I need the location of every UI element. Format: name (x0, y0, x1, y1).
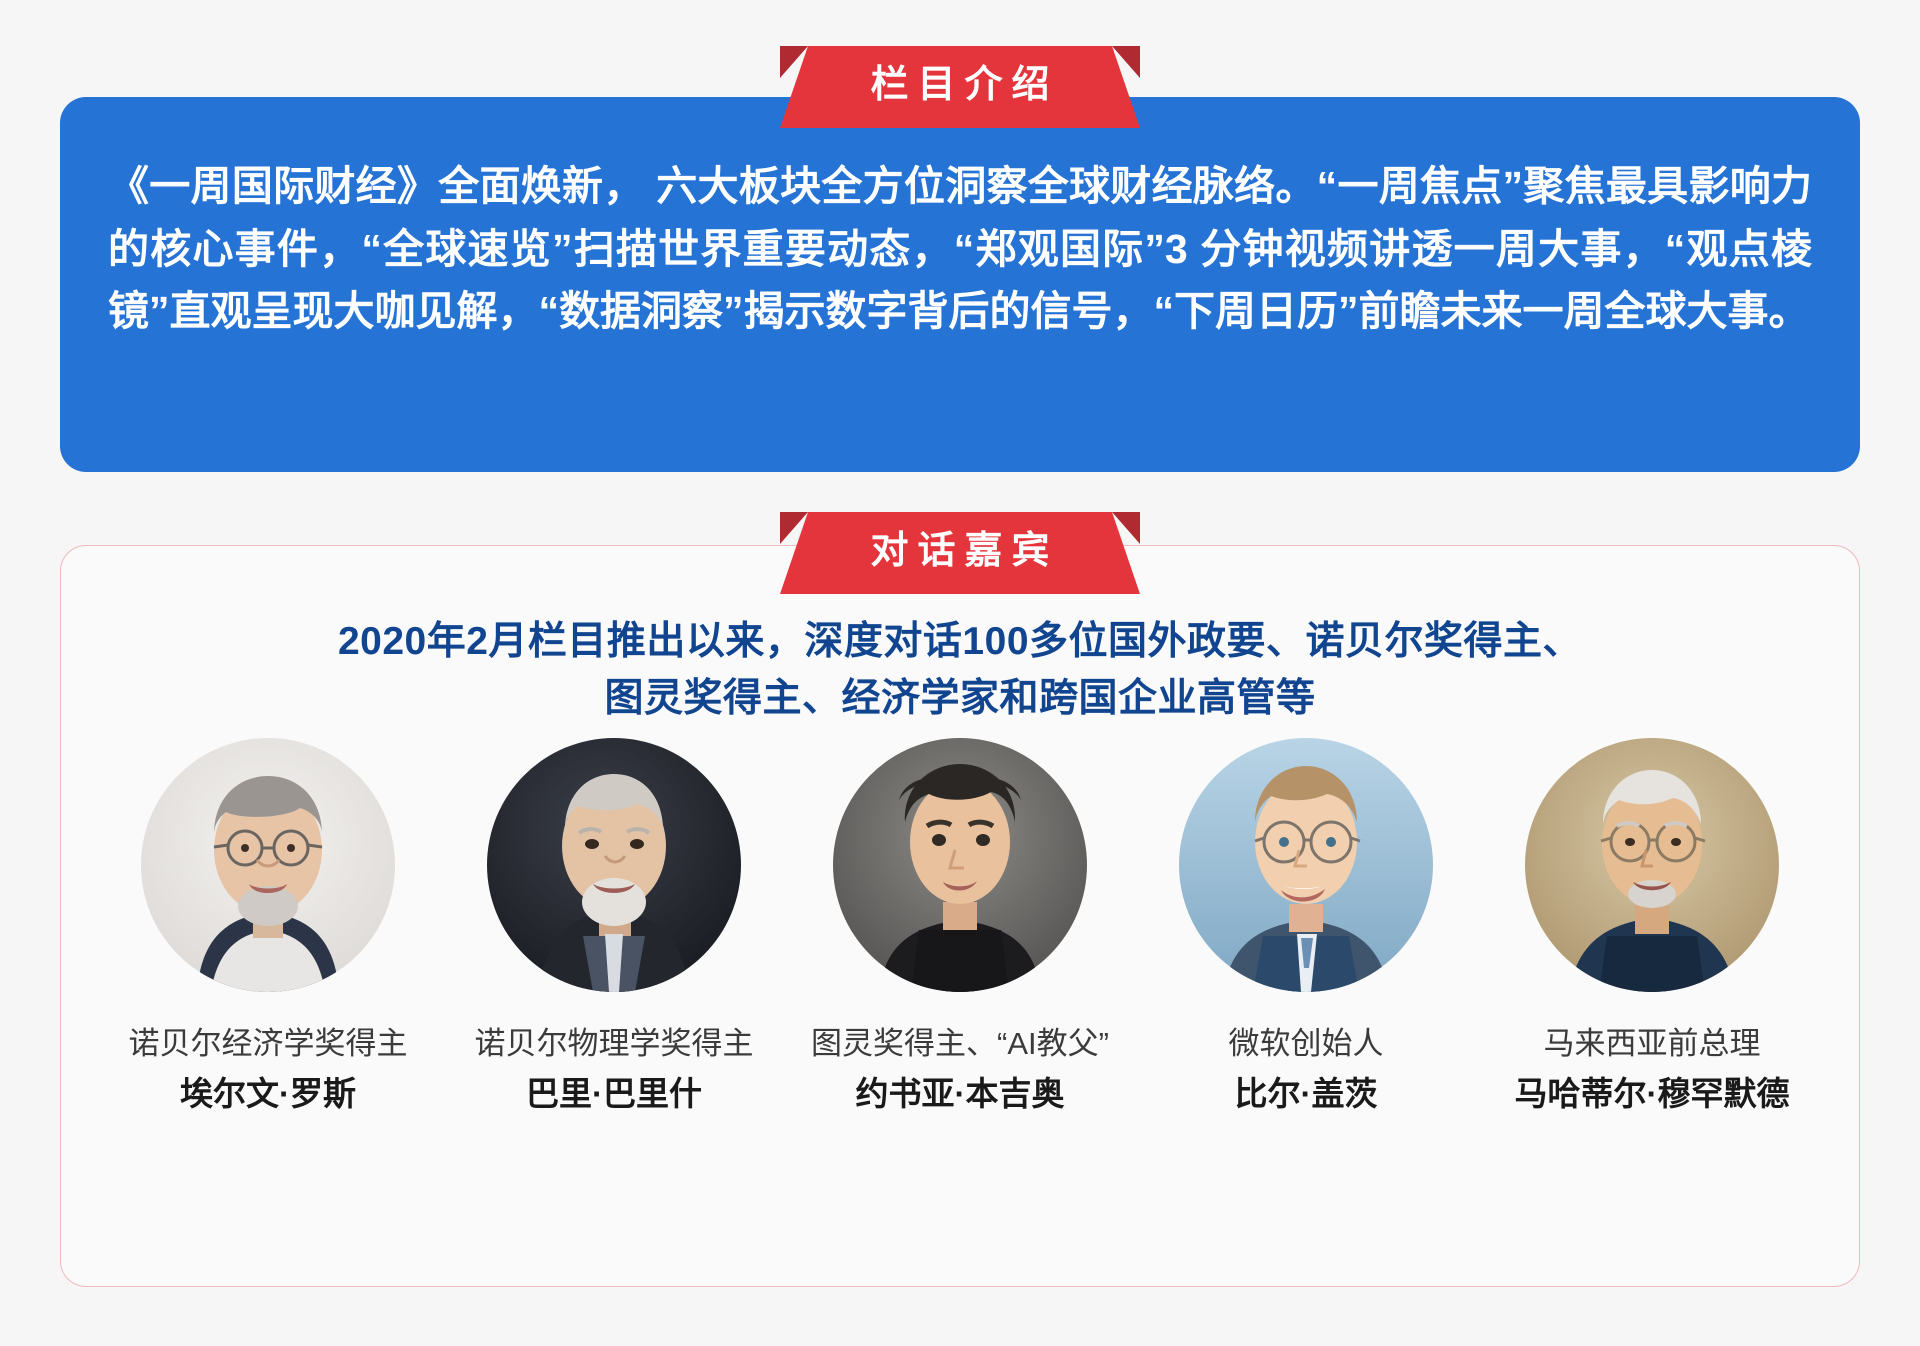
guest-ribbon-banner: 对话嘉宾 (750, 512, 1170, 594)
guest-name: 马哈蒂尔·穆罕默德 (1515, 1073, 1790, 1114)
portrait-alvin-roth-icon (141, 738, 395, 992)
guest-role: 诺贝尔物理学奖得主 (475, 1025, 754, 1064)
guest-role: 诺贝尔经济学奖得主 (129, 1025, 408, 1064)
portrait-mahathir-mohamad (1525, 738, 1779, 992)
guest-item[interactable]: 诺贝尔物理学奖得主 巴里·巴里什 (464, 738, 764, 1114)
guest-role: 微软创始人 (1229, 1025, 1384, 1064)
intro-body-text: 《一周国际财经》全面焕新， 六大板块全方位洞察全球财经脉络。“一周焦点”聚焦最具… (108, 155, 1812, 343)
guest-item[interactable]: 微软创始人 比尔·盖茨 (1156, 738, 1456, 1114)
portrait-mahathir-mohamad-icon (1525, 738, 1779, 992)
guest-name: 约书亚·本吉奥 (856, 1073, 1065, 1114)
guest-ribbon-label: 对话嘉宾 (861, 532, 1058, 574)
guest-name: 埃尔文·罗斯 (180, 1073, 356, 1114)
intro-ribbon-label: 栏目介绍 (861, 66, 1058, 108)
guest-role: 图灵奖得主、“AI教父” (811, 1025, 1109, 1064)
portrait-barry-barish (487, 738, 741, 992)
guest-item[interactable]: 诺贝尔经济学奖得主 埃尔文·罗斯 (118, 738, 418, 1114)
guest-card: 2020年2月栏目推出以来，深度对话100多位国外政要、诺贝尔奖得主、 图灵奖得… (60, 545, 1860, 1287)
guest-list: 诺贝尔经济学奖得主 埃尔文·罗斯 (61, 738, 1859, 1114)
guest-role: 马来西亚前总理 (1544, 1025, 1761, 1064)
portrait-barry-barish-icon (487, 738, 741, 992)
guest-item[interactable]: 马来西亚前总理 马哈蒂尔·穆罕默德 (1502, 738, 1802, 1114)
intro-ribbon-banner: 栏目介绍 (750, 46, 1170, 128)
guest-heading: 2020年2月栏目推出以来，深度对话100多位国外政要、诺贝尔奖得主、 图灵奖得… (61, 614, 1859, 727)
guest-heading-line2: 图灵奖得主、经济学家和跨国企业高管等 (61, 671, 1859, 728)
guest-item[interactable]: 图灵奖得主、“AI教父” 约书亚·本吉奥 (810, 738, 1110, 1114)
guest-name: 巴里·巴里什 (526, 1073, 702, 1114)
poster-page: 《一周国际财经》全面焕新， 六大板块全方位洞察全球财经脉络。“一周焦点”聚焦最具… (0, 0, 1920, 1346)
portrait-yoshua-bengio-icon (833, 738, 1087, 992)
portrait-bill-gates-icon (1179, 738, 1433, 992)
portrait-yoshua-bengio (833, 738, 1087, 992)
intro-panel: 《一周国际财经》全面焕新， 六大板块全方位洞察全球财经脉络。“一周焦点”聚焦最具… (60, 97, 1860, 472)
portrait-bill-gates (1179, 738, 1433, 992)
guest-heading-line1: 2020年2月栏目推出以来，深度对话100多位国外政要、诺贝尔奖得主、 (338, 620, 1582, 663)
guest-name: 比尔·盖茨 (1235, 1073, 1378, 1114)
portrait-alvin-roth (141, 738, 395, 992)
